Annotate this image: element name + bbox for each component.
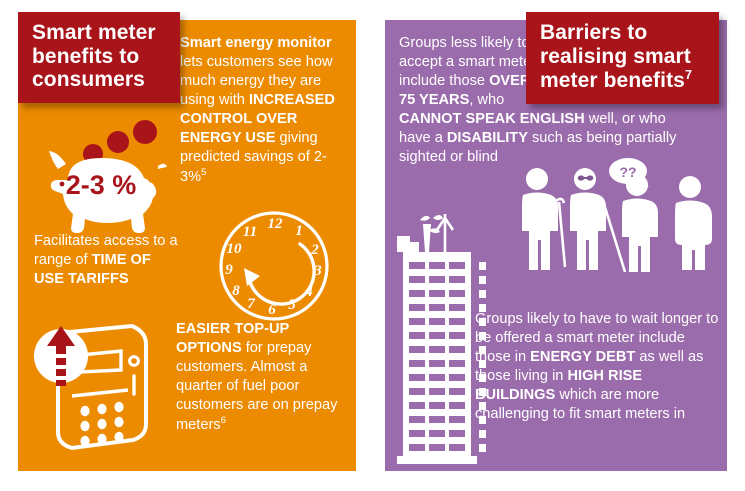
svg-text:9: 9 [225,262,233,278]
question-person-icon [622,174,658,272]
piggy-bank-icon: 2-3 % [32,118,177,236]
svg-text:12: 12 [268,216,284,232]
smart-energy-monitor-text: Smart energy monitor lets customers see … [180,34,348,187]
svg-text:10: 10 [227,241,243,257]
right-panel-title-superscript: 7 [685,68,692,82]
barriers-panel: Barriers to realising smart meter benefi… [385,20,727,471]
smart-meter-benefits-panel: Smart meter benefits to consumers Smart … [18,20,356,471]
svg-text:8: 8 [232,283,240,299]
speech-bubble-icon: ?? [609,158,649,187]
svg-text:1: 1 [295,223,303,239]
easier-topup-text: EASIER TOP-UP OPTIONS for prepay custome… [176,320,348,435]
time-of-use-tariffs-text: Facilitates access to a range of TIME OF… [34,232,184,289]
left-panel-title: Smart meter benefits to consumers [32,21,156,91]
svg-text:11: 11 [243,224,257,240]
left-panel-title-banner: Smart meter benefits to consumers [18,12,180,103]
antenna-icon [397,214,453,252]
right-panel-title: Barriers to realising smart meter benefi… [540,21,691,92]
speech-bubble-label: ?? [619,164,636,180]
meter-keypad [80,402,123,446]
piggy-savings-label: 2-3 % [66,170,137,200]
blind-person-icon [570,168,625,272]
prepay-meter-icon [28,310,173,460]
people-group-icon: ?? [513,162,718,272]
right-panel-title-banner: Barriers to realising smart meter benefi… [526,12,719,104]
elderly-person-icon [522,168,565,270]
svg-text:7: 7 [247,296,255,312]
waiting-barriers-text: Groups likely to have to wait longer to … [475,310,719,424]
woman-icon [675,176,712,270]
clock-icon: 121 23 45 67 89 1011 [214,206,334,326]
